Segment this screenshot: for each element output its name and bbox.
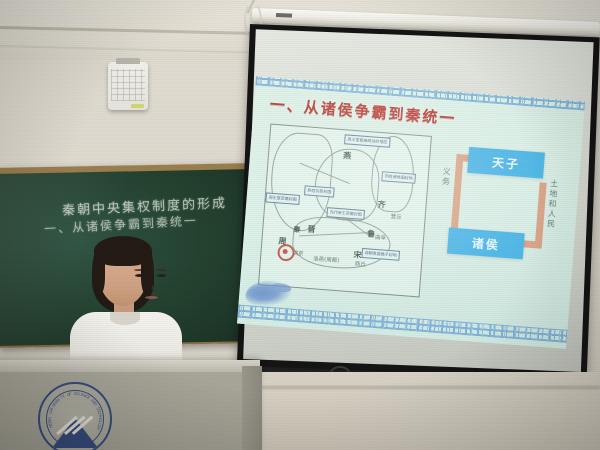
map-callout: 周王室后裔封国 (265, 192, 300, 205)
podium-side-face (242, 366, 262, 450)
map-callout: 周王室直接统治的地区 (344, 134, 391, 147)
panel-led-indicator (131, 104, 144, 108)
wall-below-screen (248, 372, 600, 450)
slide-title: 一、从诸侯争霸到秦统一 (269, 93, 457, 128)
feudal-relationship-diagram: 天子 诸侯 义务 土地和人民 (431, 131, 568, 290)
shirt-collar (110, 312, 140, 325)
map-state-label: 晋 (307, 224, 316, 236)
dragon-chariot-graphic (245, 279, 292, 306)
projection-screen: 一、从诸侯争霸到秦统一 燕 晋 齐 鲁 宋 周 秦 (250, 14, 600, 374)
panel-mount-bracket (116, 58, 140, 64)
teacher-figure (70, 238, 182, 378)
map-state-label: 燕 (343, 150, 352, 162)
screen-frame: 一、从诸侯争霸到秦统一 燕 晋 齐 鲁 宋 周 秦 (237, 24, 600, 387)
map-state-label: 秦 (293, 225, 301, 236)
diagram-label-land-people: 土地和人民 (545, 179, 560, 230)
diagram-box-emperor: 天子 (467, 147, 545, 179)
map-city-label: 曲阜 (375, 233, 387, 242)
wall-shadow-line (252, 386, 600, 389)
map-coastline (291, 215, 393, 272)
eyebrow-right (156, 269, 167, 271)
map-city-label: 商丘 (355, 259, 367, 268)
grant-arrow-shaft (535, 182, 547, 244)
speaker-grille-icon (111, 69, 145, 101)
hair-side-left (92, 248, 105, 294)
podium-top-surface (0, 360, 260, 372)
historical-map: 燕 晋 齐 鲁 宋 周 秦 镐京 洛邑(周都) 曲阜 营丘 商丘 周王室直接统治… (258, 124, 432, 298)
mouth (145, 296, 158, 299)
diagram-label-obligation: 义务 (440, 167, 453, 188)
map-capital-marker-icon (277, 243, 295, 261)
lecture-podium (0, 360, 260, 450)
map-city-label: 营丘 (390, 212, 402, 221)
classroom-photo: 秦朝中央集权制度的形成 一、从诸侯争霸到秦统一 一、从诸侯争霸到秦统一 (0, 0, 600, 450)
emblem-circular-text: HEBEI UNIVERSITY OF SCIENCE AND TECHNOLO… (40, 384, 110, 450)
map-state-label: 齐 (377, 199, 386, 211)
wall-speaker-panel[interactable] (108, 62, 148, 110)
diagram-box-lords: 诸侯 (447, 228, 525, 260)
hair-side-right (141, 248, 154, 294)
university-emblem: HEBEI UNIVERSITY OF SCIENCE AND TECHNOLO… (38, 382, 112, 450)
eye-right (157, 274, 166, 277)
slide-content: 一、从诸侯争霸到秦统一 燕 晋 齐 鲁 宋 周 秦 (237, 76, 585, 349)
